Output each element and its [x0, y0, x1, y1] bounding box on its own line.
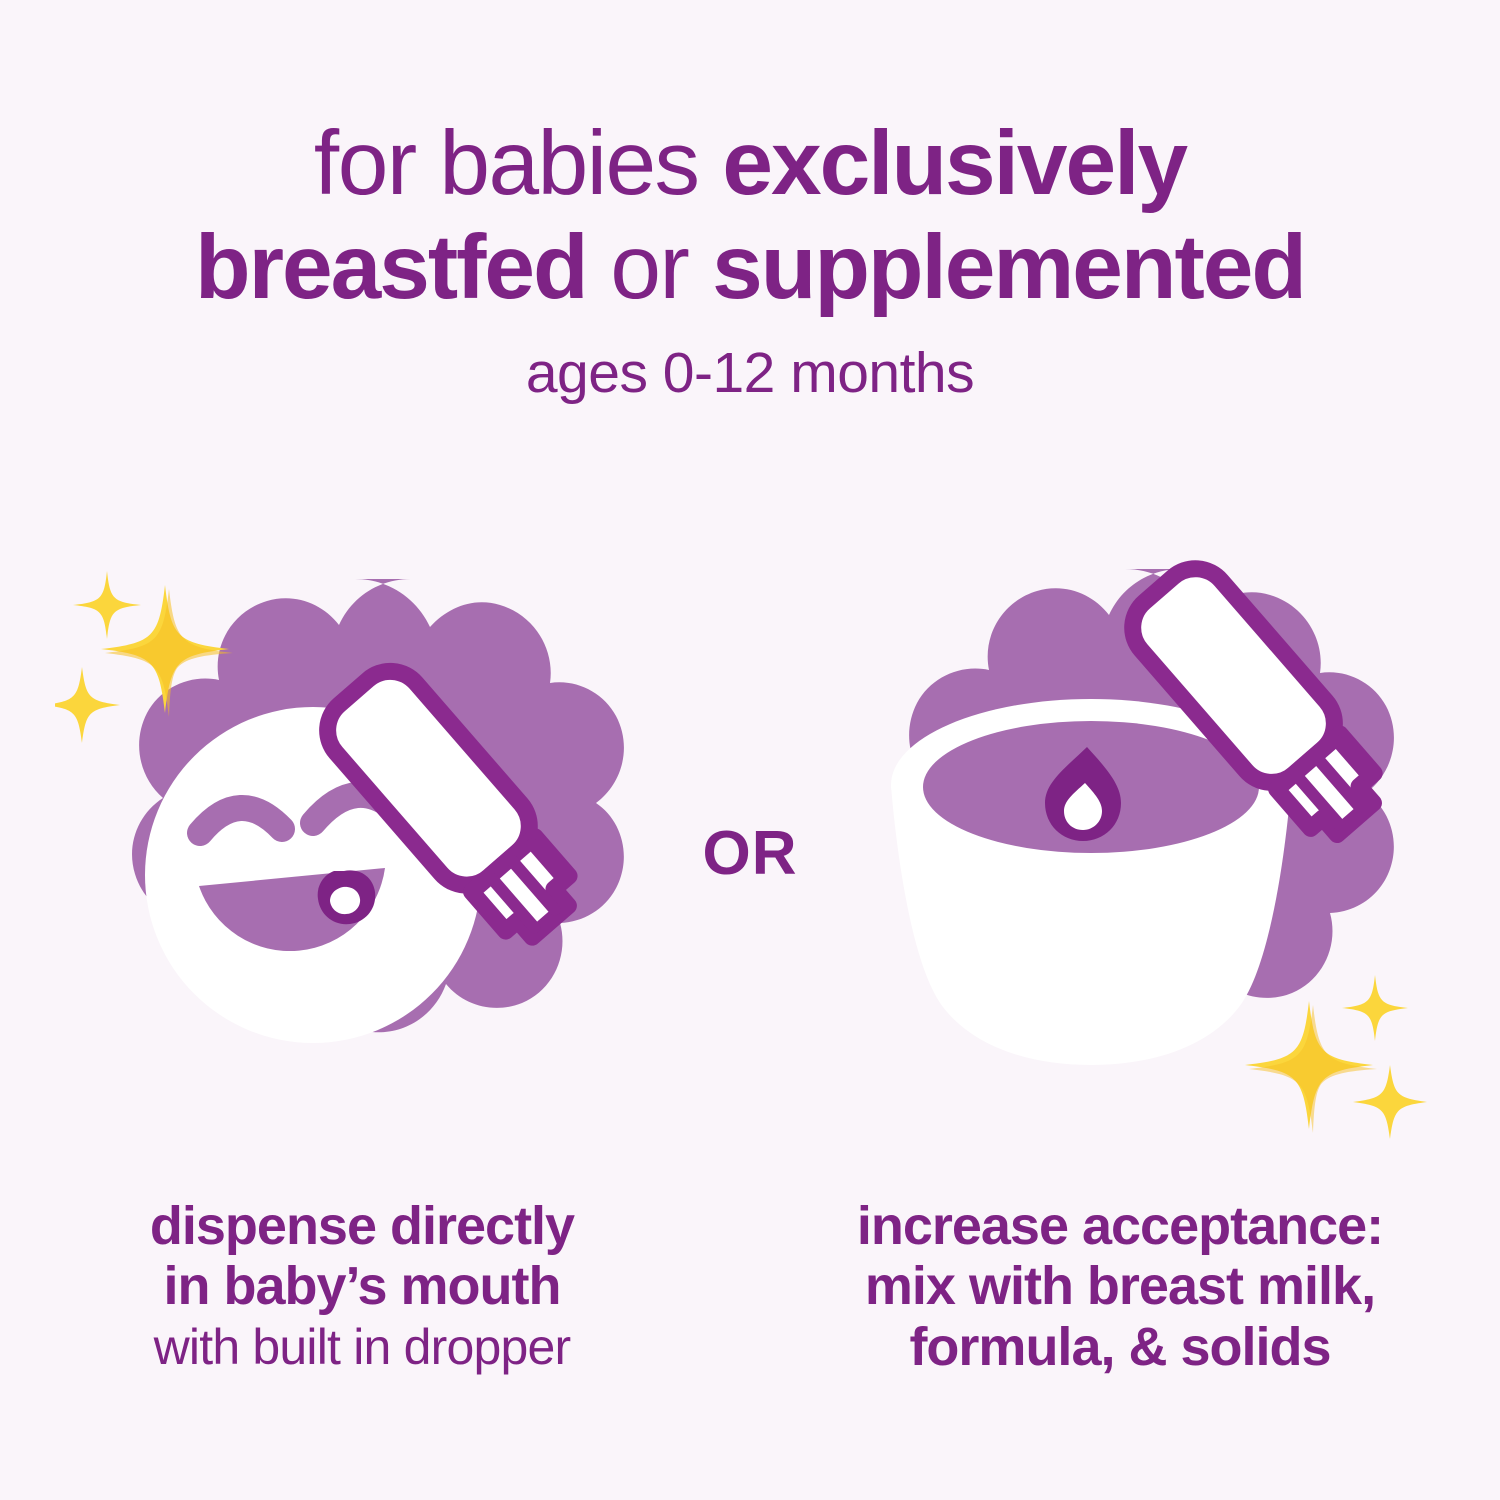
caption-strong-line-2: mix with breast milk,	[800, 1256, 1440, 1316]
headline-bold-supplemented: supplemented	[712, 217, 1305, 318]
caption-strong-line-1: dispense directly	[42, 1196, 682, 1256]
page-title: for babies exclusively breastfed or supp…	[0, 112, 1500, 319]
page-subtitle: ages 0-12 months	[0, 340, 1500, 406]
or-divider-label: OR	[690, 818, 810, 889]
headline-line-2: breastfed or supplemented	[0, 216, 1500, 320]
headline-bold-breastfed: breastfed	[195, 217, 587, 318]
headline-line-1: for babies exclusively	[0, 112, 1500, 216]
headline-light-text-1: for babies	[314, 113, 722, 214]
caption-strong-line-1: increase acceptance:	[800, 1196, 1440, 1256]
panel-increase-acceptance-illustration	[835, 555, 1435, 1180]
panel-increase-acceptance-caption: increase acceptance: mix with breast mil…	[800, 1196, 1440, 1377]
headline-light-text-2: or	[587, 217, 712, 318]
headline-bold-exclusively: exclusively	[722, 113, 1186, 214]
infographic-page: for babies exclusively breastfed or supp…	[0, 0, 1500, 1500]
caption-soft-line: with built in dropper	[42, 1319, 682, 1376]
panel-dispense-directly-illustration	[55, 555, 655, 1180]
panel-dispense-directly-caption: dispense directly in baby’s mouth with b…	[42, 1196, 682, 1376]
sparkles-icon	[1245, 975, 1427, 1139]
caption-strong-line-2: in baby’s mouth	[42, 1256, 682, 1316]
caption-strong-line-3: formula, & solids	[800, 1317, 1440, 1377]
